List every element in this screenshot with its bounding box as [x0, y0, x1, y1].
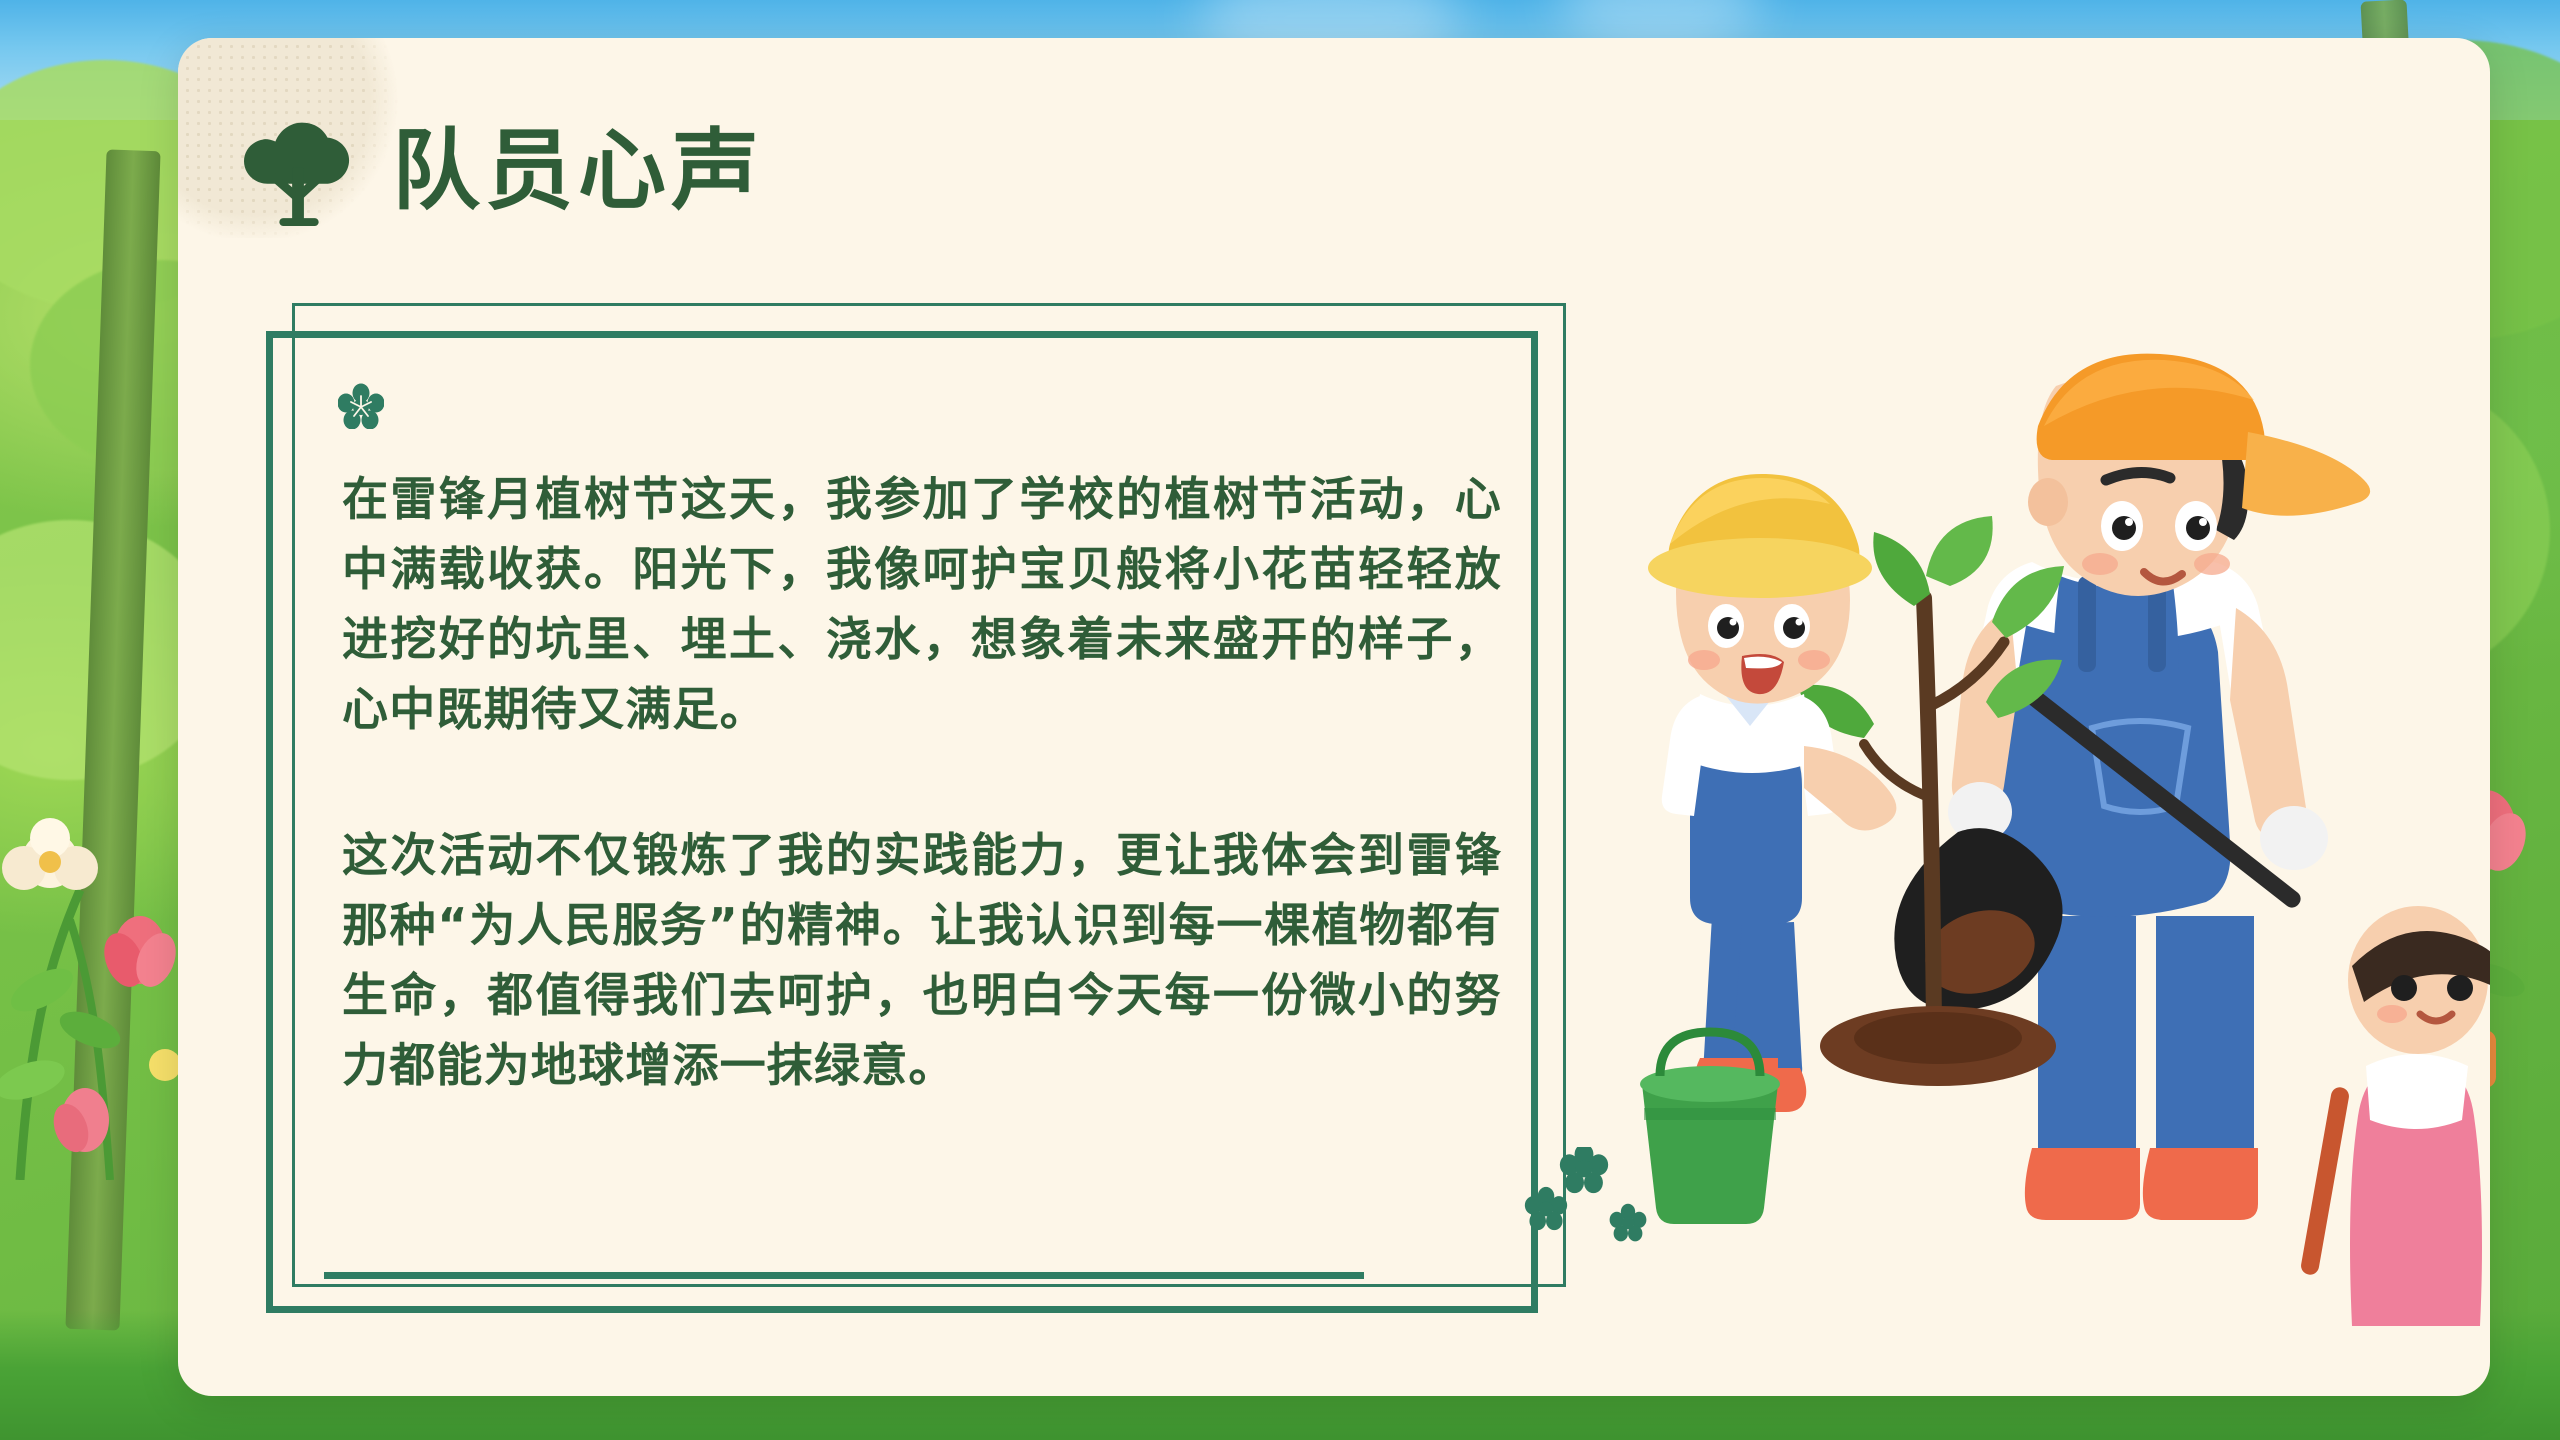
content-card: 队员心声	[178, 38, 2490, 1396]
header: 队员心声	[240, 116, 764, 226]
page-title: 队员心声	[392, 127, 764, 215]
quote-paragraph-1: 在雷锋月植树节这天，我参加了学校的植树节活动，心中满载收获。阳光下，我像呵护宝贝…	[342, 465, 1502, 745]
quote-paragraph-2: 这次活动不仅锻炼了我的实践能力，更让我体会到雷锋那种“为人民服务”的精神。让我认…	[342, 821, 1502, 1101]
plum-blossom-icon	[338, 383, 384, 429]
tree-icon	[240, 116, 358, 226]
quote-block: 在雷锋月植树节这天，我参加了学校的植树节活动，心中满载收获。阳光下，我像呵护宝贝…	[266, 303, 1566, 1313]
side-child-illustration	[2292, 896, 2490, 1326]
quote-frame-underline	[324, 1272, 1364, 1279]
